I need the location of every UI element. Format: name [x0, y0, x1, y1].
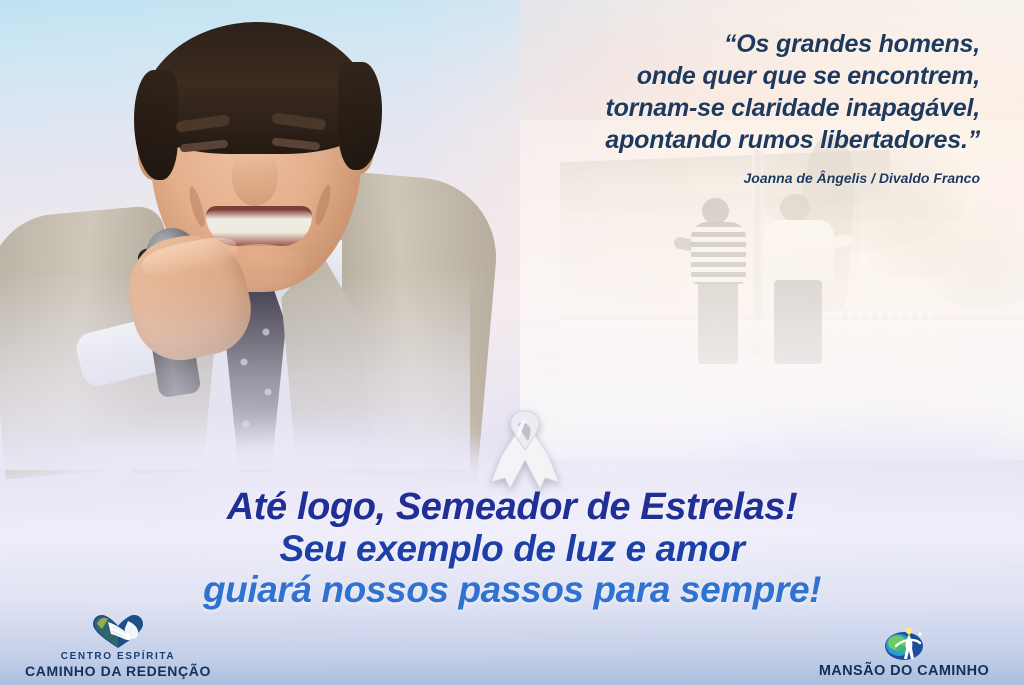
quote-attribution: Joanna de Ângelis / Divaldo Franco — [420, 170, 980, 186]
quote-line-1: “Os grandes homens, — [420, 28, 980, 60]
quote-text: “Os grandes homens, onde quer que se enc… — [420, 28, 980, 156]
headline-line-3: guiará nossos passos para sempre! — [0, 569, 1024, 610]
heart-with-hands-icon — [90, 613, 146, 649]
portrait-fade-overlay — [0, 0, 470, 470]
headline-line-1: Até logo, Semeador de Estrelas! — [0, 487, 1024, 528]
logo-centro-espirita-line1: CENTRO ESPÍRITA — [12, 651, 224, 663]
headline-line-2: Seu exemplo de luz e amor — [0, 528, 1024, 569]
quote-line-3: tornam-se claridade inapagável, — [420, 92, 980, 124]
portrait-figure — [0, 0, 470, 470]
memorial-poster: “Os grandes homens, onde quer que se enc… — [0, 0, 1024, 685]
quote-line-2: onde quer que se encontrem, — [420, 60, 980, 92]
mourning-ribbon-icon — [488, 408, 562, 490]
globe-with-figure-icon — [876, 621, 932, 661]
logo-centro-espirita-line2: CAMINHO DA REDENÇÃO — [12, 663, 224, 679]
logo-mansao-do-caminho[interactable]: MANSÃO DO CAMINHO — [794, 621, 1014, 679]
quote-line-4: apontando rumos libertadores.” — [420, 124, 980, 156]
logo-mansao-do-caminho-label: MANSÃO DO CAMINHO — [794, 663, 1014, 679]
headline-block: Até logo, Semeador de Estrelas! Seu exem… — [0, 487, 1024, 610]
logo-centro-espirita[interactable]: CENTRO ESPÍRITA CAMINHO DA REDENÇÃO — [12, 613, 224, 679]
